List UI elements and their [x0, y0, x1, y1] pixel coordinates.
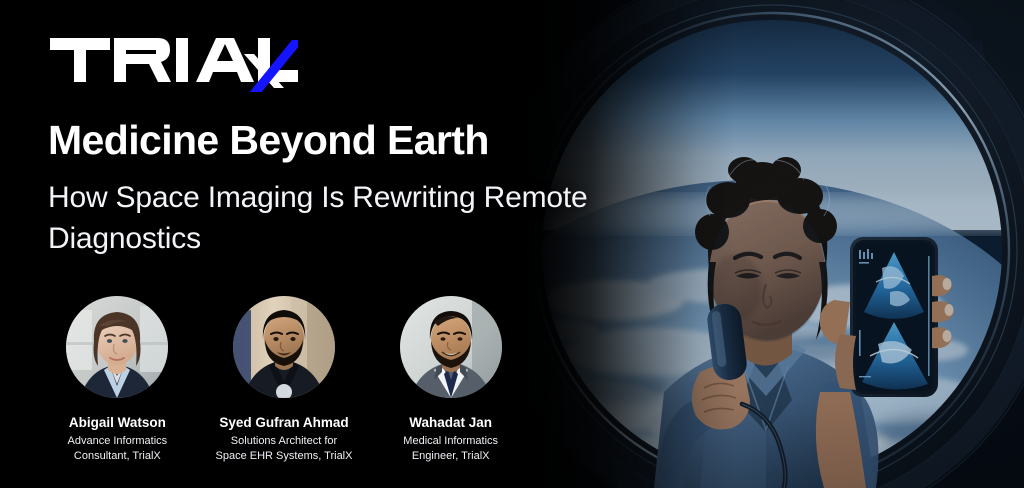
speaker-card: Wahadat Jan Medical Informatics Engineer…	[367, 296, 534, 464]
speaker-name: Wahadat Jan	[409, 415, 492, 430]
speaker-role: Medical Informatics Engineer, TrialX	[403, 434, 498, 464]
speaker-card: Abigail Watson Advance Informatics Consu…	[34, 296, 201, 464]
speaker-role: Advance Informatics Consultant, TrialX	[68, 434, 168, 464]
trialx-logo[interactable]	[48, 32, 298, 92]
webinar-banner: Medicine Beyond Earth How Space Imaging …	[0, 0, 1024, 488]
avatar	[66, 296, 168, 398]
speaker-name: Syed Gufran Ahmad	[219, 415, 348, 430]
speakers-list: Abigail Watson Advance Informatics Consu…	[34, 296, 534, 464]
page-title: Medicine Beyond Earth	[48, 119, 489, 162]
avatar	[233, 296, 335, 398]
avatar	[400, 296, 502, 398]
page-subtitle: How Space Imaging Is Rewriting Remote Di…	[48, 178, 588, 259]
speaker-role: Solutions Architect for Space EHR System…	[216, 434, 353, 464]
speaker-card: Syed Gufran Ahmad Solutions Architect fo…	[201, 296, 368, 464]
speaker-name: Abigail Watson	[69, 415, 166, 430]
